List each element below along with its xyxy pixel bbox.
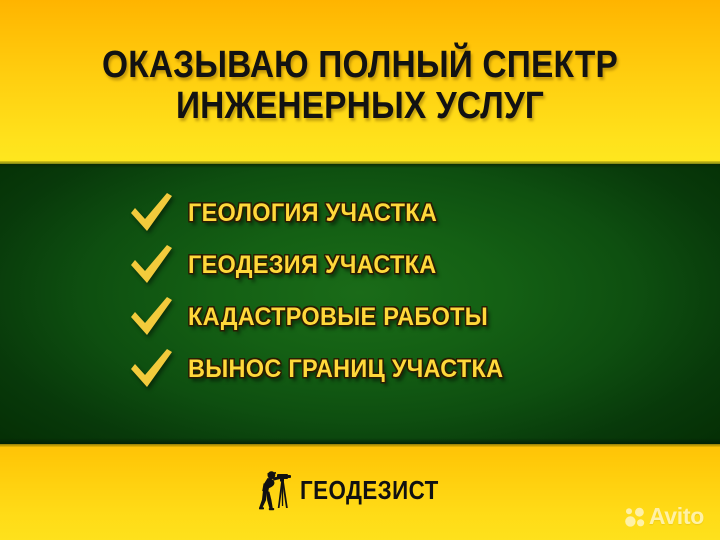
list-item-label: ГЕОЛОГИЯ УЧАСТКА [188,199,437,228]
check-icon [128,295,174,339]
check-icon [128,191,174,235]
list-item-label: КАДАСТРОВЫЕ РАБОТЫ [188,303,488,332]
surveyor-tripod-icon [259,468,293,512]
avito-wordmark: Avito [649,505,704,528]
brand-lockup: ГЕОДЕЗИСТ [0,468,720,512]
avito-watermark: Avito [624,505,704,528]
page-title-line-1: ОКАЗЫВАЮ ПОЛНЫЙ СПЕКТР [43,47,677,84]
services-list: ГЕОЛОГИЯ УЧАСТКА ГЕОДЕЗИЯ УЧАСТКА КАДАСТ… [0,164,720,444]
header-banner: ОКАЗЫВАЮ ПОЛНЫЙ СПЕКТР ИНЖЕНЕРНЫХ УСЛУГ [0,0,720,164]
list-item: КАДАСТРОВЫЕ РАБОТЫ [128,294,507,340]
promo-poster: ОКАЗЫВАЮ ПОЛНЫЙ СПЕКТР ИНЖЕНЕРНЫХ УСЛУГ … [0,0,720,540]
page-title: ОКАЗЫВАЮ ПОЛНЫЙ СПЕКТР ИНЖЕНЕРНЫХ УСЛУГ [43,47,677,125]
page-title-line-2: ИНЖЕНЕРНЫХ УСЛУГ [43,88,677,125]
list-item: ГЕОДЕЗИЯ УЧАСТКА [128,242,452,288]
list-item-label: ГЕОДЕЗИЯ УЧАСТКА [188,251,436,280]
list-item: ГЕОЛОГИЯ УЧАСТКА [128,190,453,236]
check-icon [128,243,174,287]
footer-banner: ГЕОДЕЗИСТ [0,444,720,540]
services-section: ГЕОЛОГИЯ УЧАСТКА ГЕОДЕЗИЯ УЧАСТКА КАДАСТ… [0,164,720,444]
list-item-label: ВЫНОС ГРАНИЦ УЧАСТКА [188,355,503,384]
check-icon [128,347,174,391]
avito-dots-icon [624,506,646,528]
brand-name: ГЕОДЕЗИСТ [300,475,439,506]
list-item: ВЫНОС ГРАНИЦ УЧАСТКА [128,346,524,392]
